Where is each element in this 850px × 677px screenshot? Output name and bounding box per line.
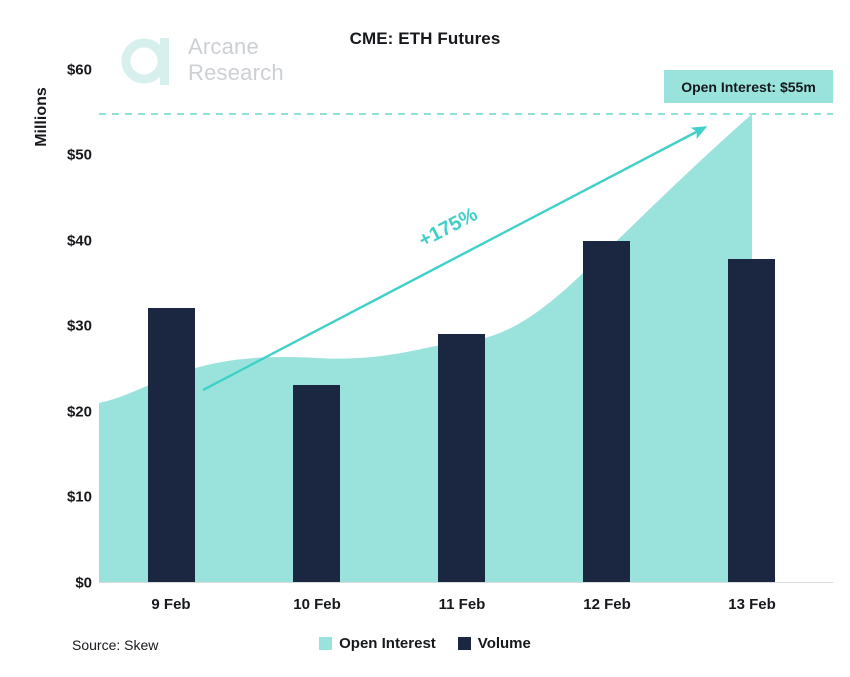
legend-label-open-interest: Open Interest bbox=[339, 635, 436, 652]
x-tick-label-12-feb: 12 Feb bbox=[547, 596, 667, 613]
chart-container: Arcane Research CME: ETH Futures Million… bbox=[0, 0, 850, 677]
x-tick-label-11-feb: 11 Feb bbox=[402, 596, 522, 613]
legend-swatch-open-interest bbox=[319, 637, 332, 650]
open-interest-area bbox=[99, 114, 752, 583]
y-tick-label-30: $30 bbox=[32, 318, 92, 335]
volume-bar-10-feb bbox=[293, 385, 340, 583]
y-tick-label-60: $60 bbox=[32, 62, 92, 79]
plot-svg: +175% bbox=[99, 60, 833, 583]
volume-bar-13-feb bbox=[728, 259, 775, 583]
x-tick-label-9-feb: 9 Feb bbox=[111, 596, 231, 613]
plot-area: +175% bbox=[99, 60, 833, 583]
chart-legend: Open Interest Volume bbox=[0, 635, 850, 652]
legend-item-open-interest[interactable]: Open Interest bbox=[319, 635, 436, 652]
growth-percent-label: +175% bbox=[415, 203, 481, 252]
legend-item-volume[interactable]: Volume bbox=[458, 635, 531, 652]
legend-swatch-volume bbox=[458, 637, 471, 650]
open-interest-callout: Open Interest: $55m bbox=[664, 70, 833, 103]
y-tick-label-50: $50 bbox=[32, 147, 92, 164]
volume-bar-11-feb bbox=[438, 334, 485, 583]
legend-label-volume: Volume bbox=[478, 635, 531, 652]
x-tick-label-10-feb: 10 Feb bbox=[257, 596, 377, 613]
volume-bar-12-feb bbox=[583, 241, 630, 583]
chart-title: CME: ETH Futures bbox=[0, 29, 850, 49]
volume-bar-9-feb bbox=[148, 308, 195, 583]
x-tick-label-13-feb: 13 Feb bbox=[692, 596, 812, 613]
y-tick-label-20: $20 bbox=[32, 404, 92, 421]
y-tick-label-40: $40 bbox=[32, 233, 92, 250]
y-tick-label-10: $10 bbox=[32, 489, 92, 506]
y-tick-label-0: $0 bbox=[32, 575, 92, 592]
